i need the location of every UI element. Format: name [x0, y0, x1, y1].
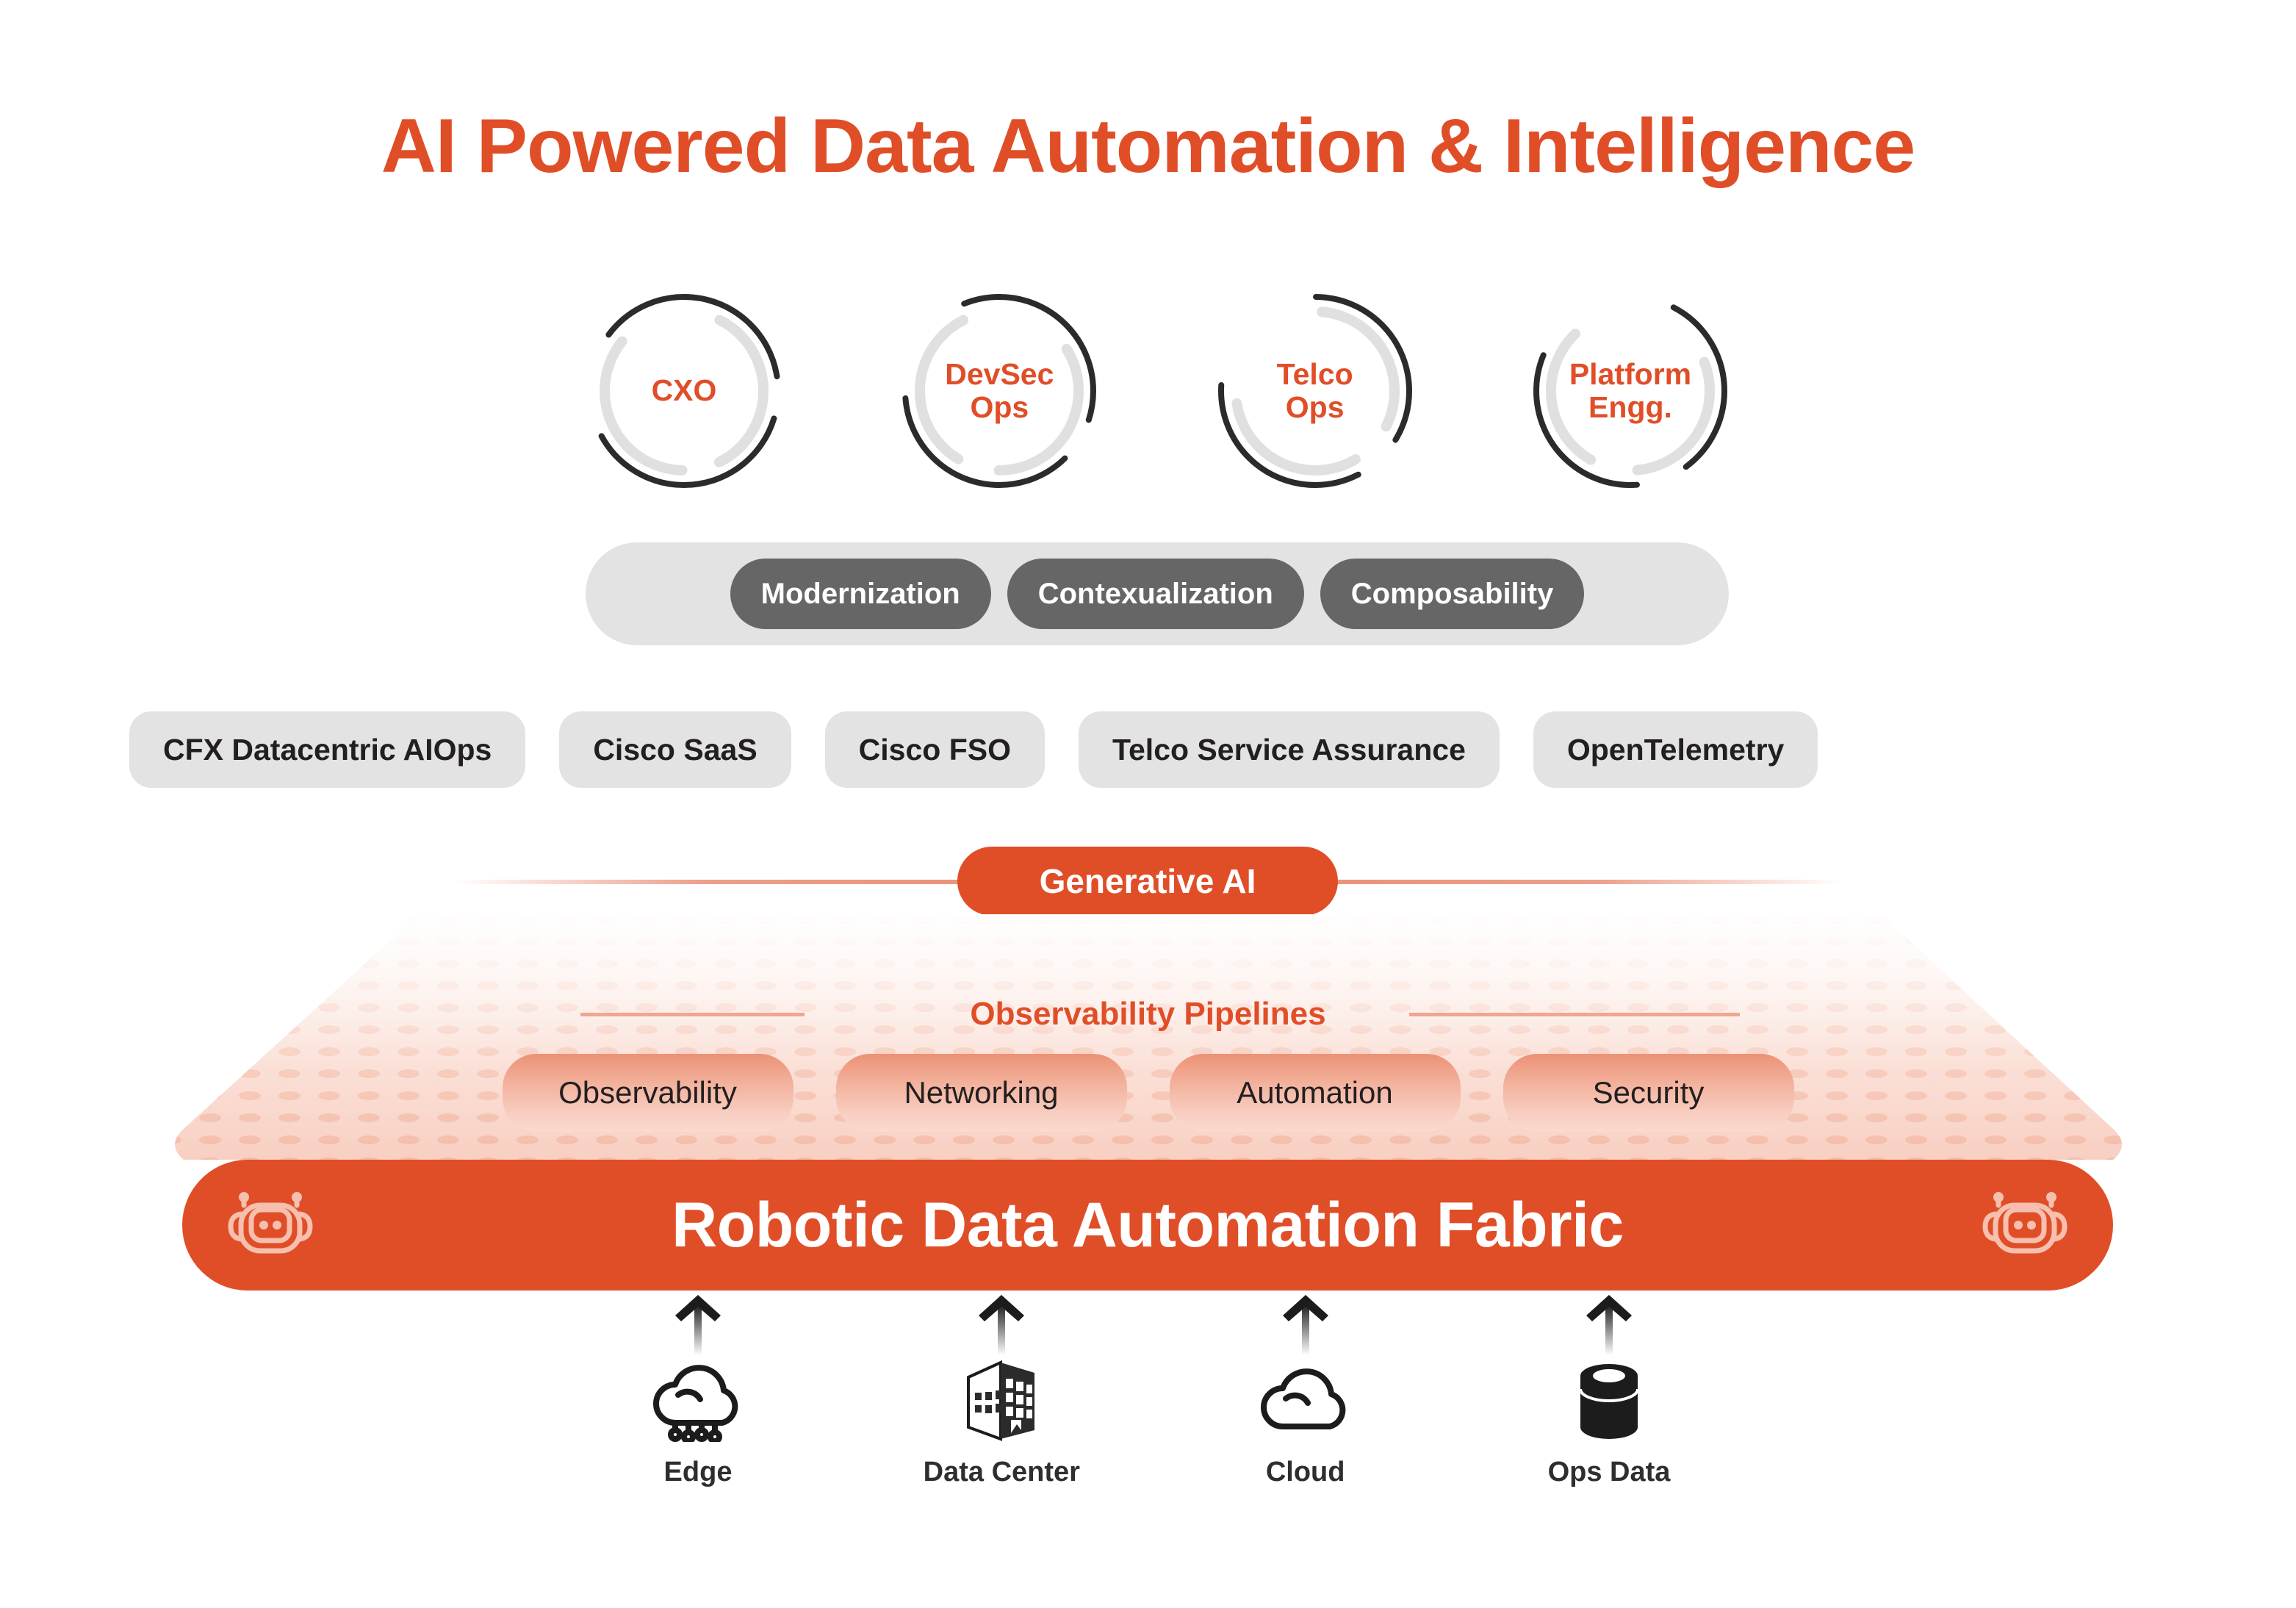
capability-pill-contexualization[interactable]: Contexualization — [1007, 559, 1304, 629]
persona-label: Platform Engg. — [1569, 358, 1691, 424]
pipeline-slot-security[interactable]: Security — [1503, 1054, 1794, 1132]
persona-row: CXO DevSec Ops Telco Ops Platform Engg. — [584, 291, 1730, 491]
fabric-title: Robotic Data Automation Fabric — [322, 1189, 1973, 1262]
data-center-building-icon — [954, 1361, 1049, 1442]
page-title: AI Powered Data Automation & Intelligenc… — [0, 103, 2296, 190]
data-source-cloud[interactable]: Cloud — [1210, 1293, 1401, 1488]
data-source-label: Cloud — [1266, 1457, 1345, 1488]
fabric-banner: Robotic Data Automation Fabric — [182, 1160, 2113, 1291]
arrow-up-icon — [1583, 1293, 1635, 1357]
data-source-data-center[interactable]: Data Center — [906, 1293, 1097, 1488]
pipeline-slot-row: Observability Networking Automation Secu… — [0, 1054, 2296, 1132]
persona-platform-engg[interactable]: Platform Engg. — [1530, 291, 1730, 491]
capability-pill-composability[interactable]: Composability — [1320, 559, 1585, 629]
product-row: CFX Datacentric AIOps Cisco SaaS Cisco F… — [129, 711, 2169, 788]
product-chip-cisco-fso[interactable]: Cisco FSO — [825, 711, 1045, 788]
pipeline-slot-networking[interactable]: Networking — [836, 1054, 1127, 1132]
arrow-up-icon — [672, 1293, 724, 1357]
persona-label: CXO — [652, 374, 717, 407]
data-source-label: Ops Data — [1548, 1457, 1671, 1488]
data-source-row: Edge — [602, 1293, 1705, 1507]
data-source-edge[interactable]: Edge — [602, 1293, 793, 1488]
data-source-ops-data[interactable]: Ops Data — [1514, 1293, 1705, 1488]
persona-cxo[interactable]: CXO — [584, 291, 784, 491]
persona-telcoops[interactable]: Telco Ops — [1215, 291, 1415, 491]
pipeline-slot-automation[interactable]: Automation — [1170, 1054, 1461, 1132]
pipelines-rule-right — [1409, 1013, 1740, 1016]
edge-cloud-icon — [643, 1361, 753, 1442]
product-chip-telco-service-assurance[interactable]: Telco Service Assurance — [1079, 711, 1500, 788]
robot-head-icon — [219, 1185, 322, 1266]
data-source-label: Edge — [664, 1457, 733, 1488]
persona-label: Telco Ops — [1277, 358, 1353, 424]
database-cylinder-icon — [1569, 1361, 1649, 1442]
product-chip-cisco-saas[interactable]: Cisco SaaS — [559, 711, 791, 788]
product-chip-cfx-datacentric-aiops[interactable]: CFX Datacentric AIOps — [129, 711, 525, 788]
capability-bar: Modernization Contexualization Composabi… — [586, 542, 1729, 645]
arrow-up-icon — [976, 1293, 1027, 1357]
robot-head-icon — [1973, 1185, 2076, 1266]
cloud-icon — [1250, 1361, 1361, 1442]
data-source-label: Data Center — [924, 1457, 1080, 1488]
product-chip-opentelemetry[interactable]: OpenTelemetry — [1533, 711, 1818, 788]
pipeline-slot-observability[interactable]: Observability — [503, 1054, 793, 1132]
generative-ai-pill[interactable]: Generative AI — [957, 847, 1338, 916]
persona-label: DevSec Ops — [945, 358, 1054, 424]
arrow-up-icon — [1280, 1293, 1331, 1357]
persona-devsecops[interactable]: DevSec Ops — [899, 291, 1099, 491]
diagram-canvas: AI Powered Data Automation & Intelligenc… — [0, 0, 2296, 1608]
pipelines-label: Observability Pipelines — [0, 996, 2296, 1033]
capability-pill-modernization[interactable]: Modernization — [730, 559, 991, 629]
